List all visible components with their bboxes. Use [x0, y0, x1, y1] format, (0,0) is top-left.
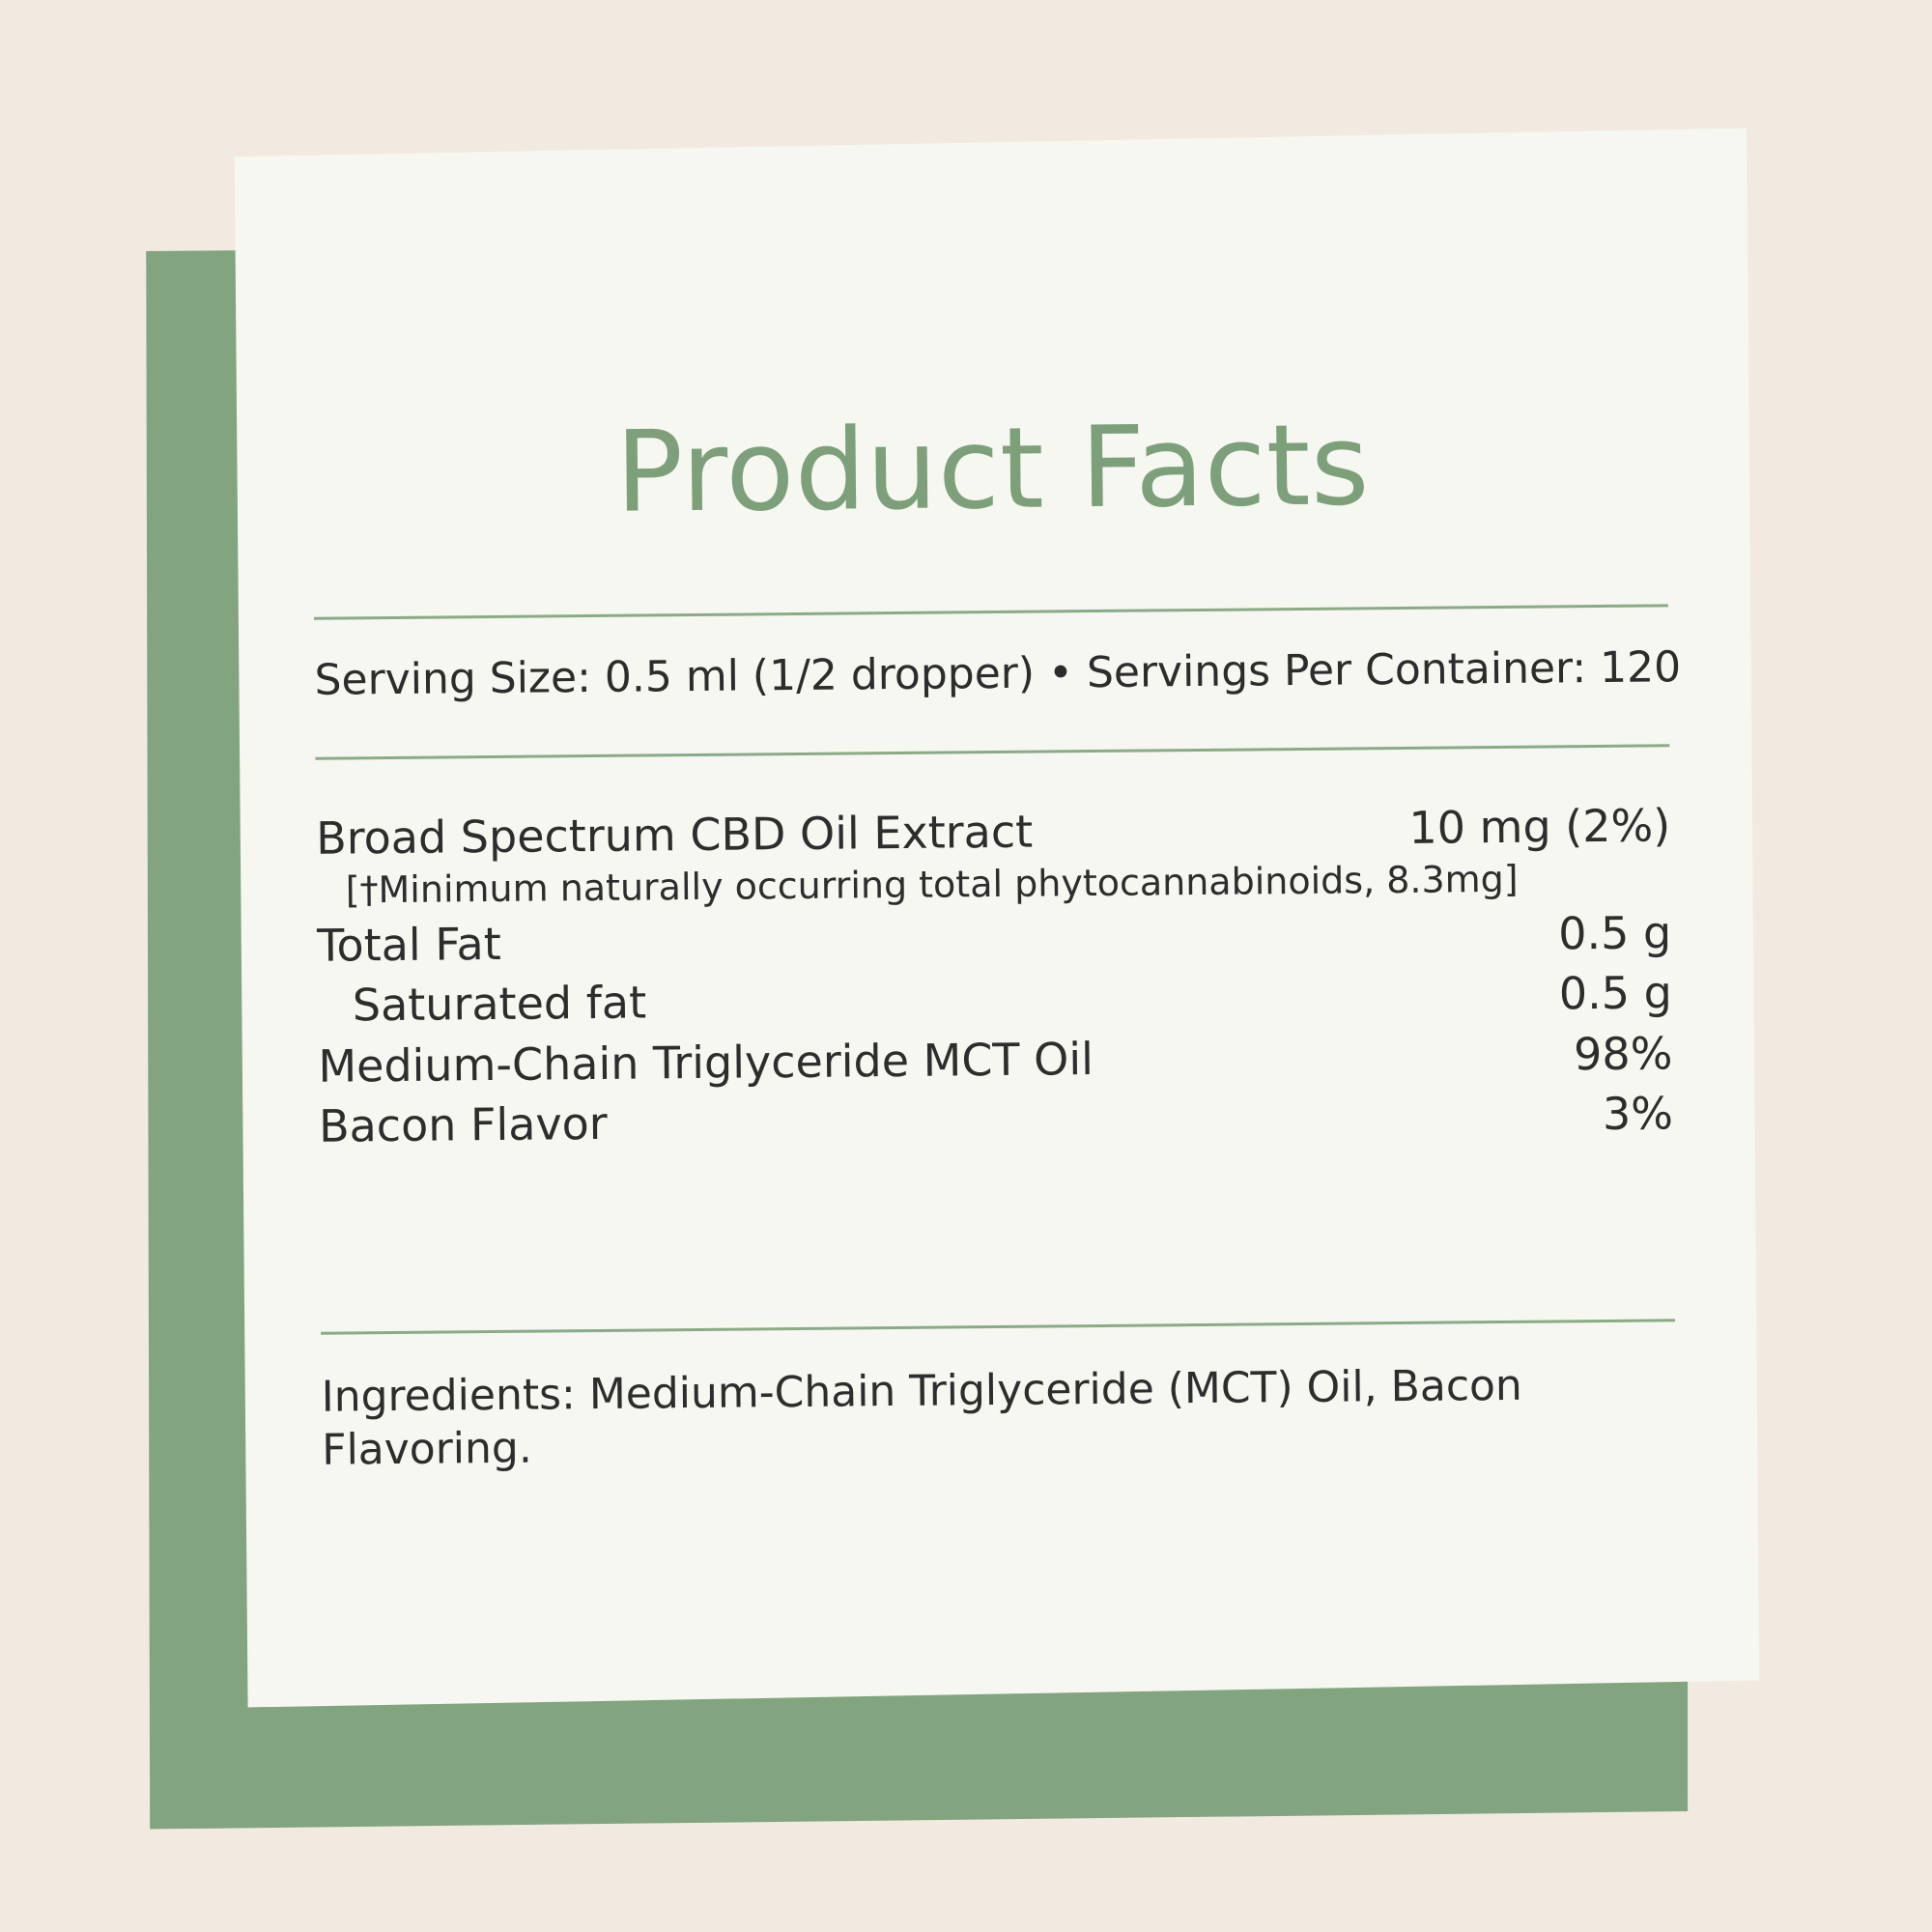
- ingredients-text: Ingredients: Medium-Chain Triglyceride (…: [321, 1357, 1676, 1476]
- nutrient-value: 10 mg (2%): [1408, 799, 1670, 854]
- divider-bottom: [321, 1319, 1675, 1334]
- card-content: Product Facts Serving Size: 0.5 ml (1/2 …: [232, 128, 1761, 1708]
- nutrient-value: 3%: [1603, 1087, 1674, 1140]
- nutrient-name: Medium-Chain Triglyceride MCT Oil: [318, 1033, 1094, 1093]
- nutrient-footnote: [†Minimum naturally occurring total phyt…: [316, 858, 1518, 912]
- product-facts-card: Product Facts Serving Size: 0.5 ml (1/2 …: [232, 128, 1761, 1708]
- serving-info: Serving Size: 0.5 ml (1/2 dropper) • Ser…: [314, 642, 1668, 706]
- table-row: Bacon Flavor 3%: [319, 1083, 1674, 1156]
- nutrient-name: Bacon Flavor: [319, 1097, 608, 1152]
- nutrient-name: Saturated fat: [318, 977, 647, 1033]
- nutrient-name: Broad Spectrum CBD Oil Extract: [316, 806, 1033, 865]
- divider-middle: [315, 744, 1669, 759]
- label-canvas: Product Facts Serving Size: 0.5 ml (1/2 …: [0, 0, 1932, 1932]
- divider-top: [314, 604, 1668, 619]
- nutrient-value: 98%: [1574, 1027, 1673, 1080]
- nutrient-value: 0.5 g: [1559, 967, 1672, 1020]
- nutrient-table: Broad Spectrum CBD Oil Extract 10 mg (2%…: [316, 795, 1673, 1156]
- nutrient-value: 0.5 g: [1558, 906, 1671, 959]
- nutrient-name: Total Fat: [317, 918, 501, 972]
- page-title: Product Facts: [235, 406, 1750, 532]
